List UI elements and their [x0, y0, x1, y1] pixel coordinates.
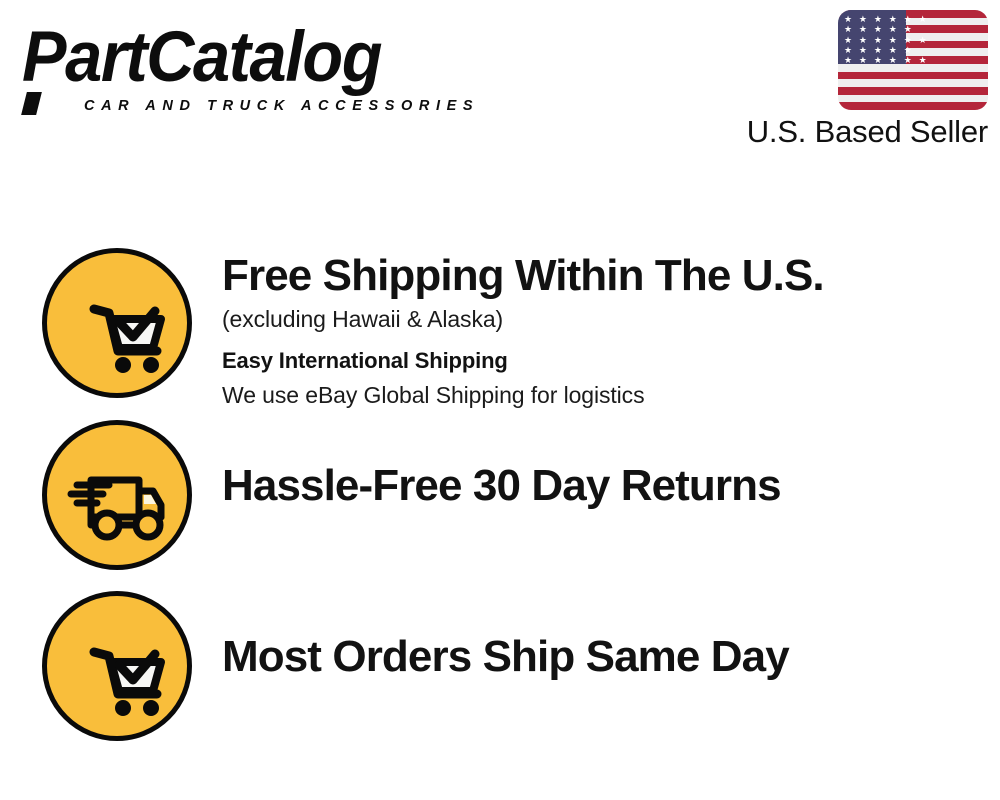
benefit-text-block: Hassle-Free 30 Day Returns: [192, 420, 1000, 512]
flag-stars-row: ★ ★ ★ ★ ★: [844, 25, 914, 35]
flag-stripe: [838, 95, 988, 103]
seller-badge-label: U.S. Based Seller: [718, 112, 988, 152]
flag-stripe: [838, 87, 988, 95]
delivery-truck-icon: [42, 420, 192, 570]
flag-stars-row: ★ ★ ★ ★ ★ ★: [844, 15, 929, 25]
brand-tagline: CAR AND TRUCK ACCESSORIES: [84, 98, 479, 114]
shopping-cart-check-icon: [42, 248, 192, 398]
flag-stripe: [838, 79, 988, 87]
flag-stripe: [838, 72, 988, 80]
benefit-subtext-strong: Easy International Shipping: [222, 344, 1000, 378]
us-flag-icon: ★ ★ ★ ★ ★ ★ ★ ★ ★ ★ ★ ★ ★ ★ ★ ★ ★ ★ ★ ★ …: [838, 10, 988, 110]
flag-stars: ★ ★ ★ ★ ★ ★ ★ ★ ★ ★ ★ ★ ★ ★ ★ ★ ★ ★ ★ ★ …: [838, 10, 906, 64]
benefit-heading: Hassle-Free 30 Day Returns: [222, 460, 1000, 512]
banner-header: PartCatalog CAR AND TRUCK ACCESSORIES: [0, 0, 1000, 175]
flag-stripe: [838, 102, 988, 110]
benefit-text-block: Free Shipping Within The U.S. (excluding…: [192, 248, 1000, 412]
partcatalog-logo: PartCatalog CAR AND TRUCK ACCESSORIES: [22, 22, 492, 117]
shopping-cart-check-icon: [42, 591, 192, 741]
brand-wordmark: PartCatalog: [22, 22, 381, 94]
flag-stars-row: ★ ★ ★ ★ ★: [844, 46, 914, 56]
flag-stars-row: ★ ★ ★ ★ ★ ★: [844, 56, 929, 66]
benefit-subtext-secondary: We use eBay Global Shipping for logistic…: [222, 378, 1000, 412]
benefit-row: Hassle-Free 30 Day Returns: [0, 420, 1000, 570]
benefit-heading: Most Orders Ship Same Day: [222, 631, 1000, 683]
promo-banner: PartCatalog CAR AND TRUCK ACCESSORIES: [0, 0, 1000, 800]
benefit-text-block: Most Orders Ship Same Day: [192, 591, 1000, 683]
seller-badge: ★ ★ ★ ★ ★ ★ ★ ★ ★ ★ ★ ★ ★ ★ ★ ★ ★ ★ ★ ★ …: [718, 10, 988, 160]
benefit-row: Most Orders Ship Same Day: [0, 591, 1000, 741]
flag-stars-row: ★ ★ ★ ★ ★ ★: [844, 36, 929, 46]
benefit-heading: Free Shipping Within The U.S.: [222, 250, 1000, 302]
benefit-row: Free Shipping Within The U.S. (excluding…: [0, 248, 1000, 412]
benefit-subtext: (excluding Hawaii & Alaska): [222, 302, 1000, 336]
